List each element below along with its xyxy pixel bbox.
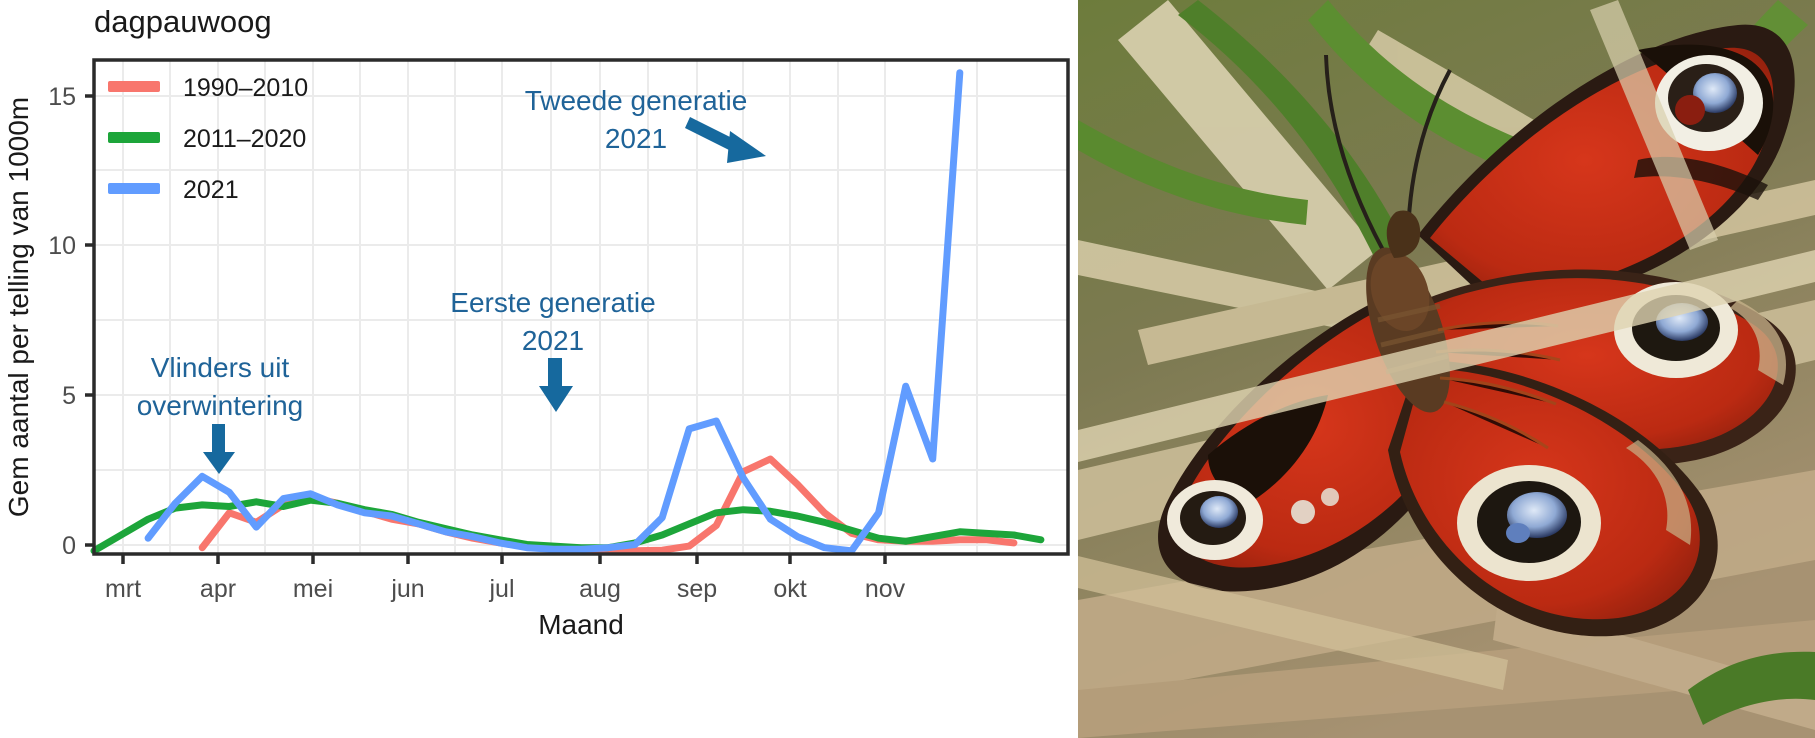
legend-label: 2011–2020 — [183, 125, 306, 153]
x-tick-label: mei — [293, 575, 333, 603]
x-tick-label: aug — [579, 575, 621, 603]
x-tick-label: jul — [488, 575, 514, 603]
peacock-butterfly-illustration — [1078, 0, 1815, 738]
x-tick-label: mrt — [105, 575, 141, 603]
legend-swatch-2011-2020 — [108, 132, 160, 143]
y-tick-label: 0 — [62, 532, 76, 560]
line-chart: 0 5 10 15 mrt apr mei jun — [0, 0, 1078, 738]
y-axis-tick-labels: 0 5 10 15 — [48, 83, 76, 560]
annotation-line: 2021 — [522, 325, 584, 356]
annotation-line: overwintering — [137, 390, 304, 421]
x-tick-label: nov — [865, 575, 906, 603]
annotation-line: Vlinders uit — [151, 352, 290, 383]
x-tick-label: sep — [677, 575, 717, 603]
y-tick-label: 5 — [62, 382, 76, 410]
annotation-line: Eerste generatie — [450, 287, 655, 318]
legend-label: 2021 — [183, 176, 239, 204]
y-tick-label: 10 — [48, 232, 76, 260]
legend-swatch-2021 — [108, 183, 160, 194]
annotation-line: Tweede generatie — [525, 85, 748, 116]
x-tick-label: apr — [200, 575, 236, 603]
legend-swatch-1990-2010 — [108, 81, 160, 92]
page-title: dagpauwoog — [94, 4, 272, 39]
legend-label: 1990–2010 — [183, 74, 308, 102]
annotation-line: 2021 — [605, 123, 667, 154]
x-axis-title: Maand — [538, 609, 624, 640]
page-root: 0 5 10 15 mrt apr mei jun — [0, 0, 1815, 738]
y-axis-title: Gem aantal per telling van 1000m — [3, 97, 34, 517]
chart-figure: 0 5 10 15 mrt apr mei jun — [0, 0, 1078, 738]
x-tick-label: okt — [773, 575, 806, 603]
butterfly-photo — [1078, 0, 1815, 738]
x-axis-tick-labels: mrt apr mei jun jul aug sep okt nov — [105, 575, 906, 603]
x-tick-label: jun — [390, 575, 424, 603]
y-tick-label: 15 — [48, 83, 76, 111]
